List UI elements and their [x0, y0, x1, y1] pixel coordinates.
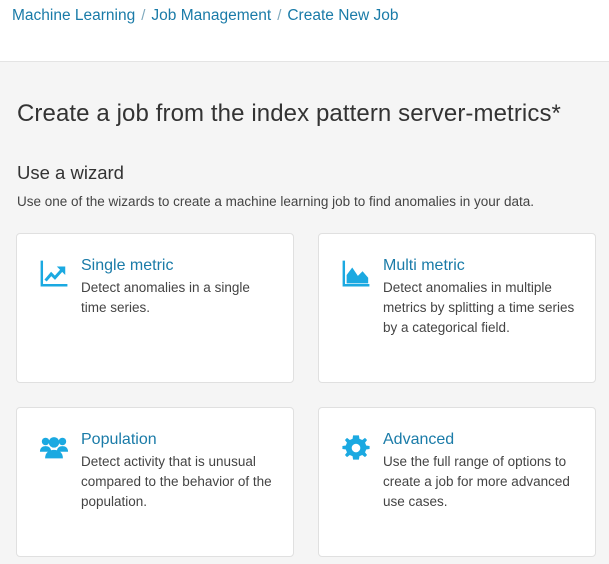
multi-metric-area-chart-icon [341, 259, 371, 289]
breadcrumb: Machine Learning / Job Management / Crea… [12, 6, 399, 26]
page-title: Create a job from the index pattern serv… [16, 62, 593, 128]
wizard-card-title: Multi metric [383, 256, 577, 276]
wizard-section-heading: Use a wizard [16, 128, 593, 184]
wizard-card-title: Population [81, 430, 275, 450]
breadcrumb-separator: / [277, 6, 281, 26]
wizard-card-multi-metric[interactable]: Multi metric Detect anomalies in multipl… [318, 233, 596, 383]
breadcrumb-item-job-management[interactable]: Job Management [151, 6, 271, 26]
single-metric-chart-icon [39, 259, 69, 289]
population-people-icon [39, 433, 69, 463]
wizard-card-description: Use the full range of options to create … [383, 452, 577, 512]
wizard-card-population[interactable]: Population Detect activity that is unusu… [16, 407, 294, 557]
wizard-section-description: Use one of the wizards to create a machi… [16, 184, 593, 211]
card-body: Advanced Use the full range of options t… [383, 430, 577, 512]
wizard-card-title: Advanced [383, 430, 577, 450]
wizard-card-advanced[interactable]: Advanced Use the full range of options t… [318, 407, 596, 557]
breadcrumb-item-create-new-job[interactable]: Create New Job [287, 6, 398, 26]
card-body: Single metric Detect anomalies in a sing… [81, 256, 275, 318]
advanced-gear-icon [341, 433, 371, 463]
wizard-card-title: Single metric [81, 256, 275, 276]
wizard-card-description: Detect anomalies in a single time series… [81, 278, 275, 318]
wizard-card-single-metric[interactable]: Single metric Detect anomalies in a sing… [16, 233, 294, 383]
breadcrumb-separator: / [141, 6, 145, 26]
card-body: Multi metric Detect anomalies in multipl… [383, 256, 577, 338]
card-body: Population Detect activity that is unusu… [81, 430, 275, 512]
wizard-card-description: Detect activity that is unusual compared… [81, 452, 275, 512]
content-panel: Create a job from the index pattern serv… [0, 61, 609, 564]
breadcrumb-bar: Machine Learning / Job Management / Crea… [0, 0, 609, 61]
wizard-card-grid: Single metric Detect anomalies in a sing… [16, 233, 593, 557]
wizard-card-description: Detect anomalies in multiple metrics by … [383, 278, 577, 338]
breadcrumb-item-machine-learning[interactable]: Machine Learning [12, 6, 135, 26]
